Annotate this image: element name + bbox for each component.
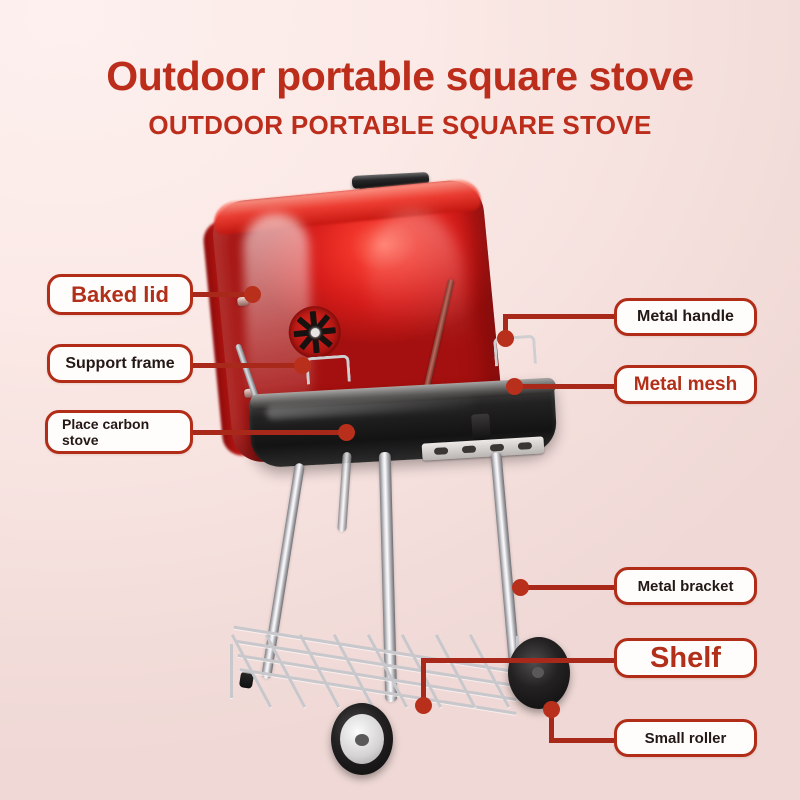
leader-dot-place-carbon-stove (338, 424, 355, 441)
leader-line-metal-mesh (512, 384, 616, 389)
callout-support-frame-label: Support frame (50, 355, 190, 373)
bottom-wire-shelf (232, 620, 532, 716)
leg-rear-left (337, 452, 352, 532)
callout-shelf[interactable]: Shelf (614, 638, 757, 678)
leader-line-shelf (421, 658, 616, 663)
leader-line-metal-handle (503, 314, 616, 319)
leader-line-baked-lid (190, 292, 252, 297)
callout-small-roller[interactable]: Small roller (614, 719, 757, 757)
leader-dot-support-frame (294, 357, 311, 374)
callout-metal-handle-label: Metal handle (617, 308, 754, 326)
leader-dot-metal-bracket (512, 579, 529, 596)
leader-line-place-carbon-stove (190, 430, 350, 435)
callout-metal-bracket-label: Metal bracket (617, 578, 754, 595)
leader-dot-baked-lid (244, 286, 261, 303)
callout-baked-lid[interactable]: Baked lid (47, 274, 193, 315)
leader-dot-metal-mesh (506, 378, 523, 395)
leader-line-support-frame (190, 363, 302, 368)
infographic-canvas: Outdoor portable square stove OUTDOOR PO… (0, 0, 800, 800)
callout-support-frame[interactable]: Support frame (47, 344, 193, 383)
callout-place-carbon-stove[interactable]: Place carbon stove (45, 410, 193, 454)
wheel-rear (508, 637, 570, 709)
leader-line-metal-bracket (518, 585, 616, 590)
wheel-front (331, 703, 393, 775)
basin-damper-latch (471, 413, 491, 440)
callout-metal-bracket[interactable]: Metal bracket (614, 567, 757, 605)
callout-shelf-label: Shelf (617, 642, 754, 675)
lid-highlight-right (362, 206, 474, 384)
leader-dot-small-roller (543, 701, 560, 718)
callout-metal-handle[interactable]: Metal handle (614, 298, 757, 336)
callout-baked-lid-label: Baked lid (50, 282, 190, 308)
callout-place-carbon-stove-line1: Place carbon (62, 416, 149, 432)
warming-rack-handle-left (305, 354, 351, 384)
callout-place-carbon-stove-line2: stove (62, 432, 99, 448)
callout-small-roller-label: Small roller (617, 730, 754, 747)
leader-line-small-roller (549, 738, 616, 743)
callout-metal-mesh[interactable]: Metal mesh (614, 365, 757, 404)
callout-metal-mesh-label: Metal mesh (617, 374, 754, 396)
leader-dot-shelf (415, 697, 432, 714)
leader-dot-metal-handle (497, 330, 514, 347)
